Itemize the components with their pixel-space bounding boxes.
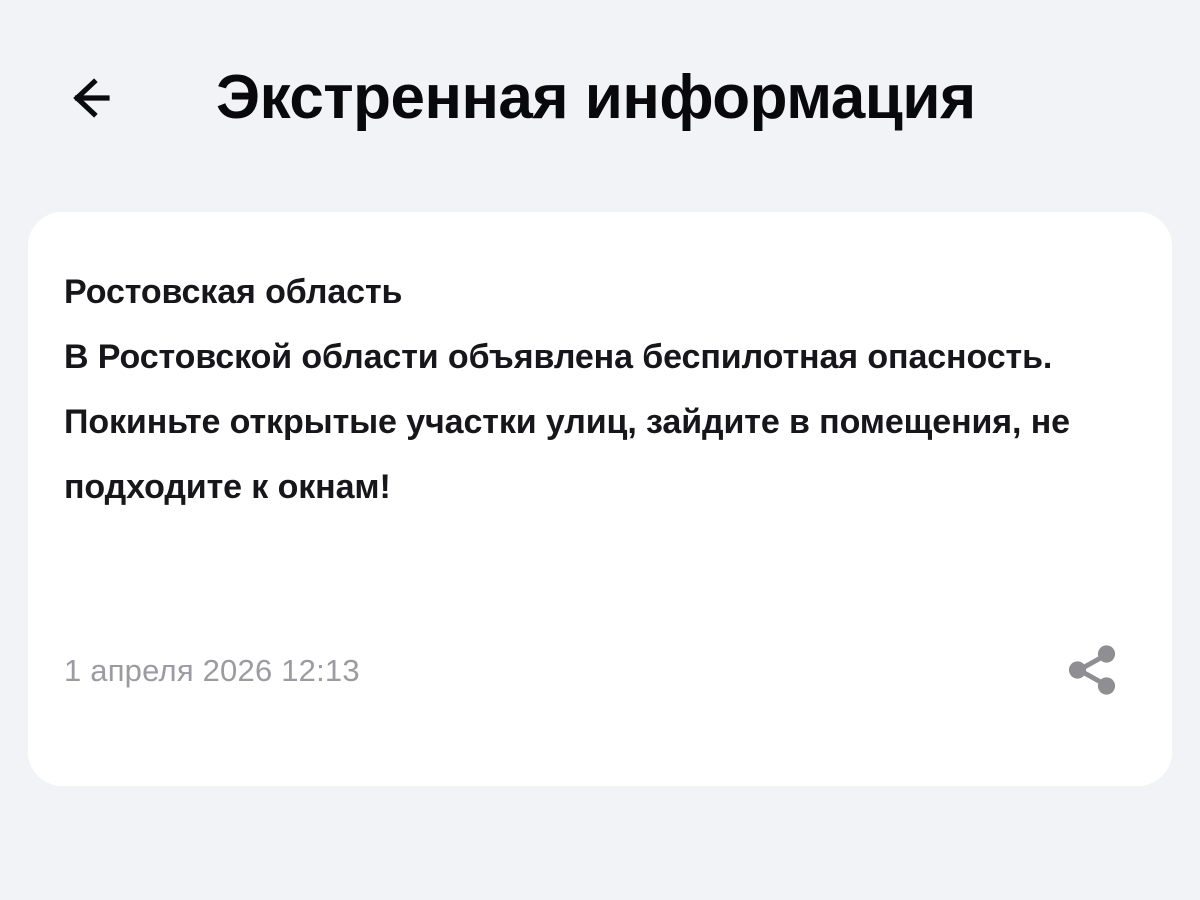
page-title: Экстренная информация bbox=[124, 67, 976, 129]
arrow-left-icon bbox=[60, 70, 116, 126]
page-header: Экстренная информация bbox=[0, 0, 1200, 196]
back-button[interactable] bbox=[52, 62, 124, 134]
share-button[interactable] bbox=[1060, 638, 1124, 702]
emergency-alert-card: Ростовская область В Ростовской области … bbox=[28, 212, 1172, 786]
share-icon bbox=[1063, 641, 1121, 699]
alert-timestamp: 1 апреля 2026 12:13 bbox=[64, 655, 360, 686]
alert-body-text: Ростовская область В Ростовской области … bbox=[64, 260, 1132, 520]
card-footer: 1 апреля 2026 12:13 bbox=[64, 638, 1132, 746]
emergency-info-screen: Экстренная информация Ростовская область… bbox=[0, 0, 1200, 900]
